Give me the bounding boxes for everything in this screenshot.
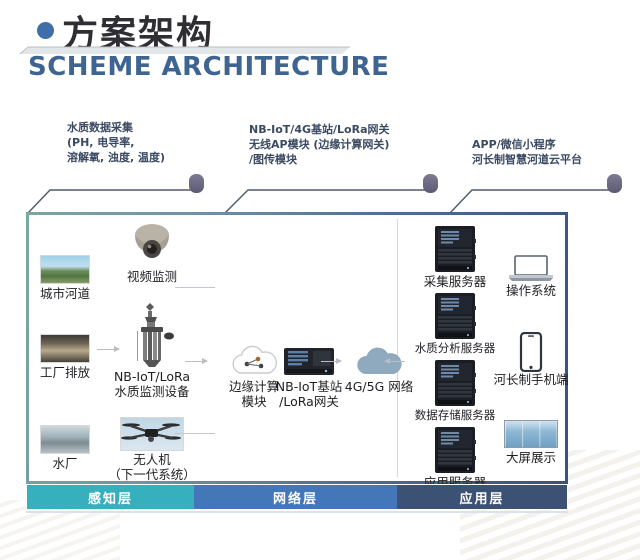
- server-data-storage-label: 数据存储服务器: [403, 408, 507, 423]
- base-station-icon: [280, 345, 338, 379]
- callout-application-text: APP/微信小程序 河长制智慧河道云平台: [472, 137, 622, 167]
- layer-bar: 感知层 网络层 应用层: [26, 484, 568, 510]
- arrow-basestation-to-network: [321, 361, 341, 362]
- callout-sensing-text: 水质数据采集 (PH, 电导率, 溶解氧, 浊度, 温度): [67, 120, 227, 165]
- client-mobile-app-label: 河长制手机端: [483, 372, 579, 387]
- server-collection: 采集服务器: [403, 225, 507, 289]
- layer-application[interactable]: 应用层: [397, 485, 567, 509]
- layer-sensing-label: 感知层: [88, 488, 133, 507]
- arrow-source-to-device: [97, 349, 119, 350]
- server-collection-label: 采集服务器: [403, 274, 507, 289]
- device-water-quality-probe-label: NB-IoT/LoRa 水质监测设备: [91, 369, 213, 399]
- client-video-wall-label: 大屏展示: [493, 450, 569, 465]
- water-quality-probe-icon: [121, 303, 183, 369]
- layer-network-label: 网络层: [273, 488, 318, 507]
- connector-camera-right: [175, 287, 215, 288]
- bullet-dot-icon: [37, 22, 54, 39]
- device-video-monitoring-label: 视频监测: [105, 269, 199, 284]
- device-drone: 无人机 （下一代系统）: [91, 417, 213, 482]
- architecture-frame: 城市河道 工厂排放 水厂 视频监测: [26, 212, 568, 484]
- waterworks-thumbnail-icon: [40, 425, 90, 454]
- client-video-wall: 大屏展示: [493, 420, 569, 465]
- callout-network-knob: [423, 174, 438, 193]
- source-urban-river-label: 城市河道: [33, 286, 97, 301]
- client-mobile-app: 河长制手机端: [483, 332, 579, 387]
- layer-bar-underline: [26, 511, 568, 513]
- server-icon: [433, 225, 477, 273]
- ptz-camera-icon: [127, 223, 177, 269]
- connector-drone-right: [175, 433, 215, 434]
- cloud-icon: [353, 345, 405, 379]
- page-header: 方案架构 SCHEME ARCHITECTURE: [0, 0, 640, 96]
- server-application: 应用服务器: [403, 426, 507, 490]
- video-wall-icon: [504, 420, 558, 448]
- device-drone-label: 无人机 （下一代系统）: [91, 452, 213, 482]
- source-factory-discharge-label: 工厂排放: [33, 365, 97, 380]
- layer-network[interactable]: 网络层: [194, 485, 397, 509]
- smartphone-icon: [518, 332, 544, 372]
- factory-thumbnail-icon: [40, 334, 90, 363]
- drone-icon: [120, 417, 184, 451]
- client-operating-system: 操作系统: [493, 253, 569, 298]
- callout-application-knob: [607, 174, 622, 193]
- callout-sensing-knob: [189, 174, 204, 193]
- source-factory-discharge: 工厂排放: [33, 334, 97, 380]
- server-icon: [433, 292, 477, 340]
- server-icon: [433, 359, 477, 407]
- device-video-monitoring: 视频监测: [105, 223, 199, 284]
- callout-sensing: 水质数据采集 (PH, 电导率, 溶解氧, 浊度, 温度): [67, 120, 227, 165]
- page-title-en: SCHEME ARCHITECTURE: [28, 52, 389, 82]
- device-water-quality-probe: NB-IoT/LoRa 水质监测设备: [91, 303, 213, 399]
- layer-sensing[interactable]: 感知层: [27, 485, 194, 509]
- source-waterworks-label: 水厂: [33, 456, 97, 471]
- laptop-icon: [507, 253, 555, 283]
- arrow-edge-to-basestation: [185, 361, 207, 362]
- source-waterworks: 水厂: [33, 425, 97, 471]
- client-operating-system-label: 操作系统: [493, 283, 569, 298]
- callout-application: APP/微信小程序 河长制智慧河道云平台: [472, 137, 622, 167]
- callout-network-text: NB-IoT/4G基站/LoRa网关 无线AP模块 (边缘计算网关) /图传模块: [249, 122, 439, 167]
- river-thumbnail-icon: [40, 255, 90, 284]
- server-icon: [433, 426, 477, 474]
- layer-application-label: 应用层: [459, 488, 504, 507]
- arrow-network-to-servers: [385, 361, 405, 362]
- callout-network: NB-IoT/4G基站/LoRa网关 无线AP模块 (边缘计算网关) /图传模块: [249, 122, 439, 167]
- source-urban-river: 城市河道: [33, 255, 97, 301]
